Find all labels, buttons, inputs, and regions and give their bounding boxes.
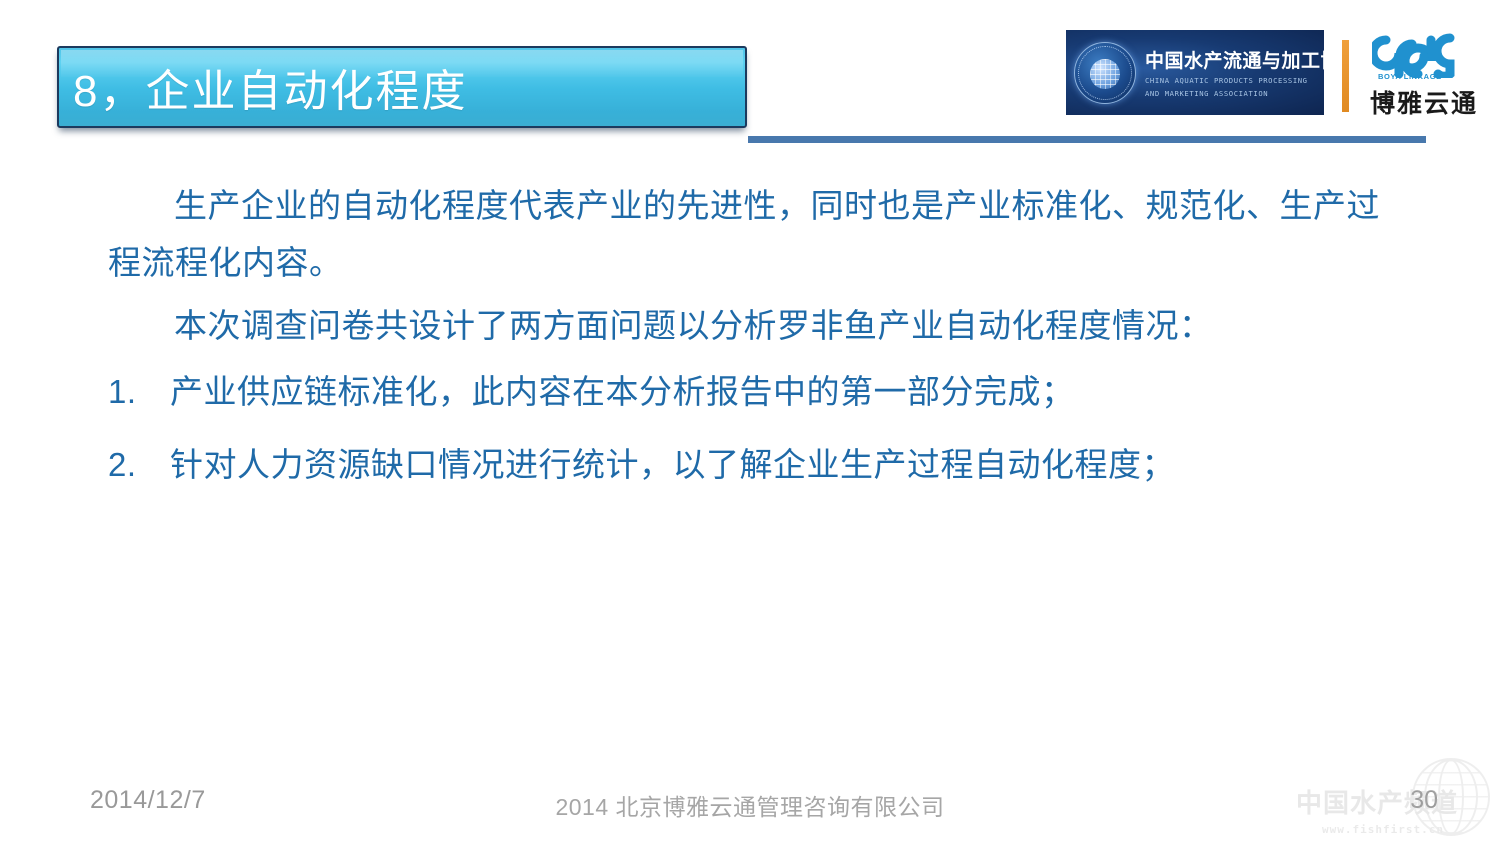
page-title: 8，企业自动化程度: [73, 55, 467, 119]
slide-canvas: 8，企业自动化程度 中国水产流通与加工协会 CHINA AQUATIC PROD…: [0, 0, 1500, 844]
association-name-cn: 中国水产流通与加工协会: [1145, 46, 1324, 73]
list-item: 2. 针对人力资源缺口情况进行统计，以了解企业生产过程自动化程度；: [108, 437, 1398, 494]
boya-name-en: BOYA LINKAGE: [1378, 72, 1442, 81]
watermark-url: www.fishfirst.cn: [1322, 823, 1444, 836]
logo-separator-bar: [1342, 40, 1349, 112]
association-logo: 中国水产流通与加工协会 CHINA AQUATIC PRODUCTS PROCE…: [1066, 30, 1324, 115]
list-item: 1. 产业供应链标准化，此内容在本分析报告中的第一部分完成；: [108, 364, 1398, 421]
list-item-text: 产业供应链标准化，此内容在本分析报告中的第一部分完成；: [170, 364, 1398, 421]
footer-company: 2014 北京博雅云通管理咨询有限公司: [0, 788, 1500, 822]
body-paragraph-2: 本次调查问卷共设计了两方面问题以分析罗非鱼产业自动化程度情况：: [108, 298, 1398, 355]
logo-group: 中国水产流通与加工协会 CHINA AQUATIC PRODUCTS PROCE…: [1066, 28, 1486, 120]
numbered-list: 1. 产业供应链标准化，此内容在本分析报告中的第一部分完成； 2. 针对人力资源…: [108, 364, 1398, 494]
globe-seal-icon: [1074, 42, 1136, 104]
body-paragraph-1: 生产企业的自动化程度代表产业的先进性，同时也是产业标准化、规范化、生产过程流程化…: [108, 178, 1398, 292]
list-item-text: 针对人力资源缺口情况进行统计，以了解企业生产过程自动化程度；: [170, 437, 1398, 494]
boya-logo: BOYA LINKAGE 博雅云通: [1362, 28, 1486, 120]
list-item-marker: 1.: [108, 364, 170, 421]
slide-body: 生产企业的自动化程度代表产业的先进性，同时也是产业标准化、规范化、生产过程流程化…: [108, 178, 1398, 510]
association-name-en-line2: AND MARKETING ASSOCIATION: [1145, 89, 1324, 99]
association-logo-text: 中国水产流通与加工协会 CHINA AQUATIC PRODUCTS PROCE…: [1145, 46, 1324, 100]
boya-linkage-icon: [1372, 30, 1468, 78]
page-number: 30: [1410, 786, 1438, 815]
slide-title-box: 8，企业自动化程度: [57, 46, 747, 128]
boya-name-cn: 博雅云通: [1370, 84, 1478, 120]
association-name-en-line1: CHINA AQUATIC PRODUCTS PROCESSING: [1145, 76, 1324, 86]
list-item-marker: 2.: [108, 437, 170, 494]
title-divider-line: [748, 136, 1426, 143]
